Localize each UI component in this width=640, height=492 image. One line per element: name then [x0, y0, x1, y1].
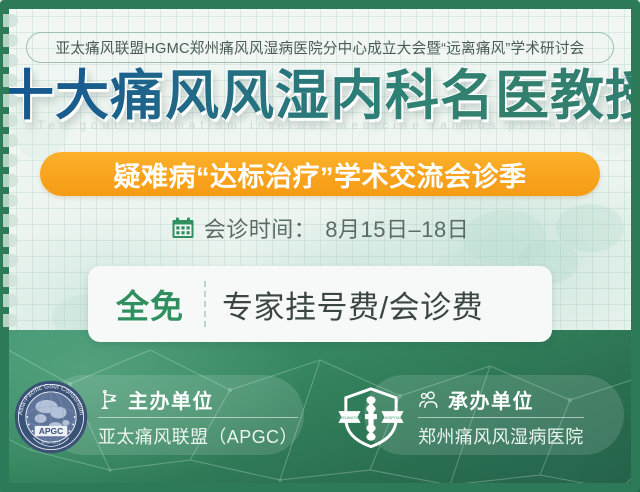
campaign-pill: 疑难病“达标治疗”学术交流会诊季	[40, 152, 600, 196]
svg-text:HOSPITAL: HOSPITAL	[383, 416, 402, 420]
organizer-co-host-role: 承办单位	[448, 385, 534, 414]
date-value: 8月15日–18日	[325, 212, 469, 244]
organizer-host-role-row: 主办单位	[98, 385, 298, 418]
campaign-pill-text: 疑难病“达标治疗”学术交流会诊季	[114, 155, 527, 194]
organizer-co-host: RHEUMATISM HOSPITAL 承办单位 郑州痛风风湿病医院	[320, 372, 640, 462]
promo-banner: 亚太痛风联盟HGMC郑州痛风风湿病医院分中心成立大会暨“远离痛风”学术研讨会 十…	[0, 0, 640, 492]
organizer-row: Asia-Pacific Gout Consortium APGC since …	[0, 372, 640, 462]
date-label: 会诊时间：	[204, 212, 317, 244]
shield-hospital-logo: RHEUMATISM HOSPITAL	[334, 380, 408, 454]
flag-icon	[98, 389, 120, 411]
organizer-co-host-name: 郑州痛风风湿病医院	[418, 423, 584, 449]
free-badge: 全免	[116, 280, 184, 328]
page-title-english: Ten gout rheumatism internal medicine fa…	[0, 120, 640, 132]
organizer-co-host-text: 承办单位 郑州痛风风湿病医院	[418, 385, 584, 449]
card-divider	[204, 281, 206, 327]
left-edge-notches	[3, 14, 19, 334]
calendar-icon	[171, 216, 195, 240]
free-offer-text: 专家挂号费/会诊费	[222, 282, 483, 327]
date-row: 会诊时间： 8月15日–18日	[0, 212, 640, 244]
page-title: 十大痛风风湿内科名医教授	[0, 66, 640, 126]
svg-text:APGC: APGC	[39, 426, 64, 436]
conference-title-text: 亚太痛风联盟HGMC郑州痛风风湿病医院分中心成立大会暨“远离痛风”学术研讨会	[56, 37, 585, 58]
people-icon	[418, 389, 440, 411]
free-offer-card: 全免 专家挂号费/会诊费	[88, 266, 552, 342]
organizer-host-name: 亚太痛风联盟（APGC）	[98, 423, 298, 449]
svg-text:RHEUMATISM: RHEUMATISM	[337, 416, 362, 420]
svg-text:since 2017: since 2017	[41, 440, 61, 445]
organizer-host: Asia-Pacific Gout Consortium APGC since …	[0, 372, 320, 462]
organizer-host-text: 主办单位 亚太痛风联盟（APGC）	[98, 385, 298, 449]
organizer-co-host-role-row: 承办单位	[418, 385, 584, 418]
conference-title-pill: 亚太痛风联盟HGMC郑州痛风风湿病医院分中心成立大会暨“远离痛风”学术研讨会	[26, 32, 614, 63]
apgc-seal-logo: Asia-Pacific Gout Consortium APGC since …	[14, 380, 88, 454]
organizer-host-role: 主办单位	[128, 385, 214, 414]
